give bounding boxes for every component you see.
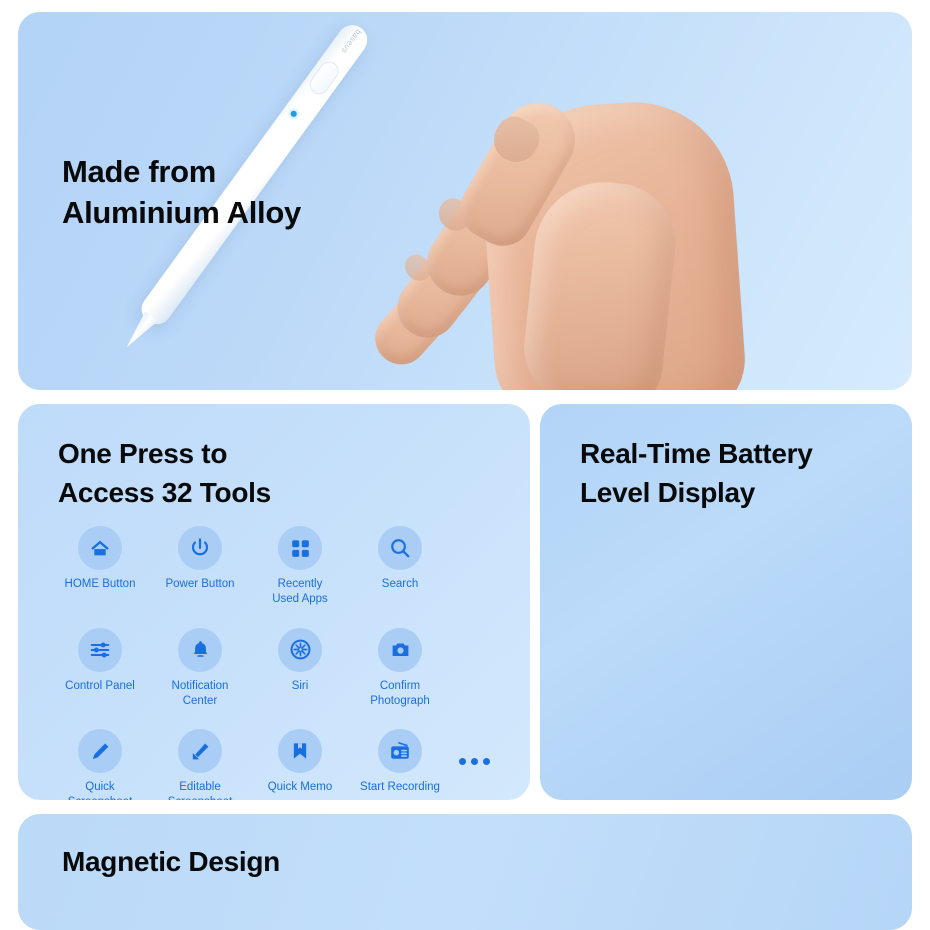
grid-apps-icon bbox=[278, 526, 322, 570]
tool-item-label: Siri bbox=[292, 679, 309, 694]
search-icon bbox=[378, 526, 422, 570]
tool-item-label: QuickScreenshoot bbox=[68, 780, 133, 800]
bell-icon bbox=[178, 628, 222, 672]
tool-item-label: Start Recording bbox=[360, 780, 440, 795]
panel-alloy-heading-line2: Aluminium Alloy bbox=[62, 193, 301, 234]
pencil-icon bbox=[78, 729, 122, 773]
tool-item[interactable]: HOME Button bbox=[50, 526, 150, 608]
tool-item[interactable]: RecentlyUsed Apps bbox=[250, 526, 350, 608]
tool-item[interactable]: Control Panel bbox=[50, 628, 150, 710]
panel-aluminium-alloy: baseus Made from Aluminium Alloy bbox=[18, 12, 912, 390]
tool-item[interactable]: ConfirmPhotograph bbox=[350, 628, 450, 710]
panel-magnetic-design: baseus Magnetic Design bbox=[18, 814, 912, 930]
panel-tools-heading-line1: One Press to bbox=[58, 434, 271, 473]
tool-item[interactable]: Start Recording bbox=[350, 729, 450, 800]
tool-item[interactable]: Quick Memo bbox=[250, 729, 350, 800]
siri-icon bbox=[278, 628, 322, 672]
home-icon bbox=[78, 526, 122, 570]
panel-battery-heading-line2: Level Display bbox=[580, 473, 812, 512]
product-feature-page: baseus Made from Aluminium Alloy One Pre… bbox=[0, 0, 930, 930]
more-tools-ellipsis-icon[interactable] bbox=[459, 758, 490, 765]
tool-item-label: HOME Button bbox=[65, 577, 136, 592]
panel-access-32-tools: One Press to Access 32 Tools HOME Button… bbox=[18, 404, 530, 800]
tool-item-label: NotificationCenter bbox=[172, 679, 229, 710]
tool-item[interactable]: QuickScreenshoot bbox=[50, 729, 150, 800]
tool-item-label: Control Panel bbox=[65, 679, 135, 694]
pencil-edit-icon bbox=[178, 729, 222, 773]
tools-grid: HOME ButtonPower ButtonRecentlyUsed Apps… bbox=[50, 526, 450, 800]
tool-item[interactable]: Siri bbox=[250, 628, 350, 710]
bookmark-icon bbox=[278, 729, 322, 773]
camera-icon bbox=[378, 628, 422, 672]
stylus-tip bbox=[122, 311, 158, 353]
panel-battery-level: baseus Real-Time Battery Level Display bbox=[540, 404, 912, 800]
tool-item[interactable]: Power Button bbox=[150, 526, 250, 608]
power-icon bbox=[178, 526, 222, 570]
stylus-button bbox=[306, 58, 343, 98]
recorder-icon bbox=[378, 729, 422, 773]
tool-item-label: Quick Memo bbox=[268, 780, 333, 795]
tool-item-label: Power Button bbox=[165, 577, 234, 592]
tool-item-label: EditableScreenshoot bbox=[168, 780, 233, 800]
panel-alloy-heading: Made from Aluminium Alloy bbox=[62, 152, 301, 234]
tool-item-label: RecentlyUsed Apps bbox=[272, 577, 328, 608]
panel-magnetic-heading: Magnetic Design bbox=[62, 846, 280, 878]
tool-item[interactable]: NotificationCenter bbox=[150, 628, 250, 710]
panel-tools-heading: One Press to Access 32 Tools bbox=[58, 434, 271, 512]
tool-item-label: ConfirmPhotograph bbox=[370, 679, 429, 710]
tool-item[interactable]: Search bbox=[350, 526, 450, 608]
stylus-brand-logo: baseus bbox=[336, 23, 367, 61]
panel-alloy-heading-line1: Made from bbox=[62, 152, 301, 193]
sliders-icon bbox=[78, 628, 122, 672]
panel-tools-heading-line2: Access 32 Tools bbox=[58, 473, 271, 512]
tool-item-label: Search bbox=[382, 577, 418, 592]
stylus-led-indicator bbox=[290, 110, 298, 118]
panel-battery-heading: Real-Time Battery Level Display bbox=[580, 434, 812, 512]
panel-battery-heading-line1: Real-Time Battery bbox=[580, 434, 812, 473]
tool-item[interactable]: EditableScreenshoot bbox=[150, 729, 250, 800]
